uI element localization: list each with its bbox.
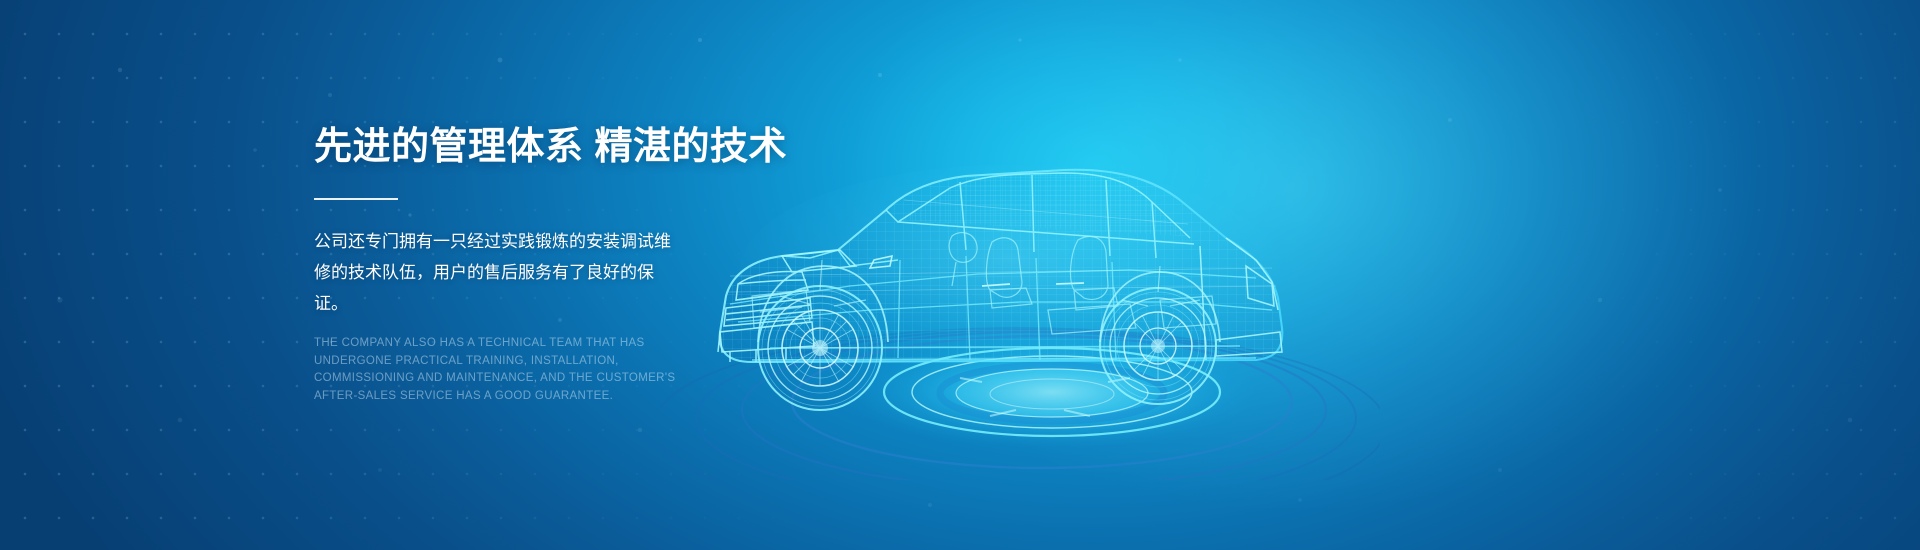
banner-sub-paragraph: THE COMPANY ALSO HAS A TECHNICAL TEAM TH… [314,335,686,405]
hero-banner: 先进的管理体系 精湛的技术 公司还专门拥有一只经过实践锻炼的安装调试维修的技术队… [0,0,1920,550]
background-speckles [0,0,1920,550]
banner-headline: 先进的管理体系 精湛的技术 [314,124,734,170]
banner-lead-paragraph: 公司还专门拥有一只经过实践锻炼的安装调试维修的技术队伍，用户的售后服务有了良好的… [314,226,686,319]
headline-divider [314,198,398,200]
banner-text-block: 先进的管理体系 精湛的技术 公司还专门拥有一只经过实践锻炼的安装调试维修的技术队… [314,124,734,405]
